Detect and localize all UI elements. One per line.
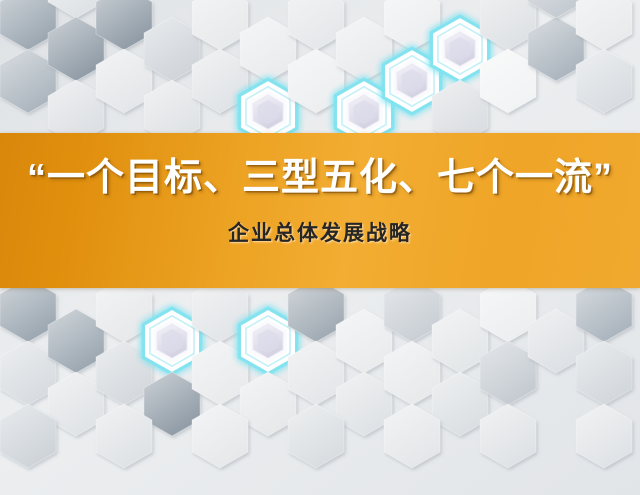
slide-canvas: “一个目标、三型五化、七个一流” 企业总体发展战略 <box>0 0 640 495</box>
page-subtitle: 企业总体发展战略 <box>228 217 412 247</box>
title-banner: “一个目标、三型五化、七个一流” 企业总体发展战略 <box>0 133 640 288</box>
page-title: “一个目标、三型五化、七个一流” <box>27 157 613 201</box>
